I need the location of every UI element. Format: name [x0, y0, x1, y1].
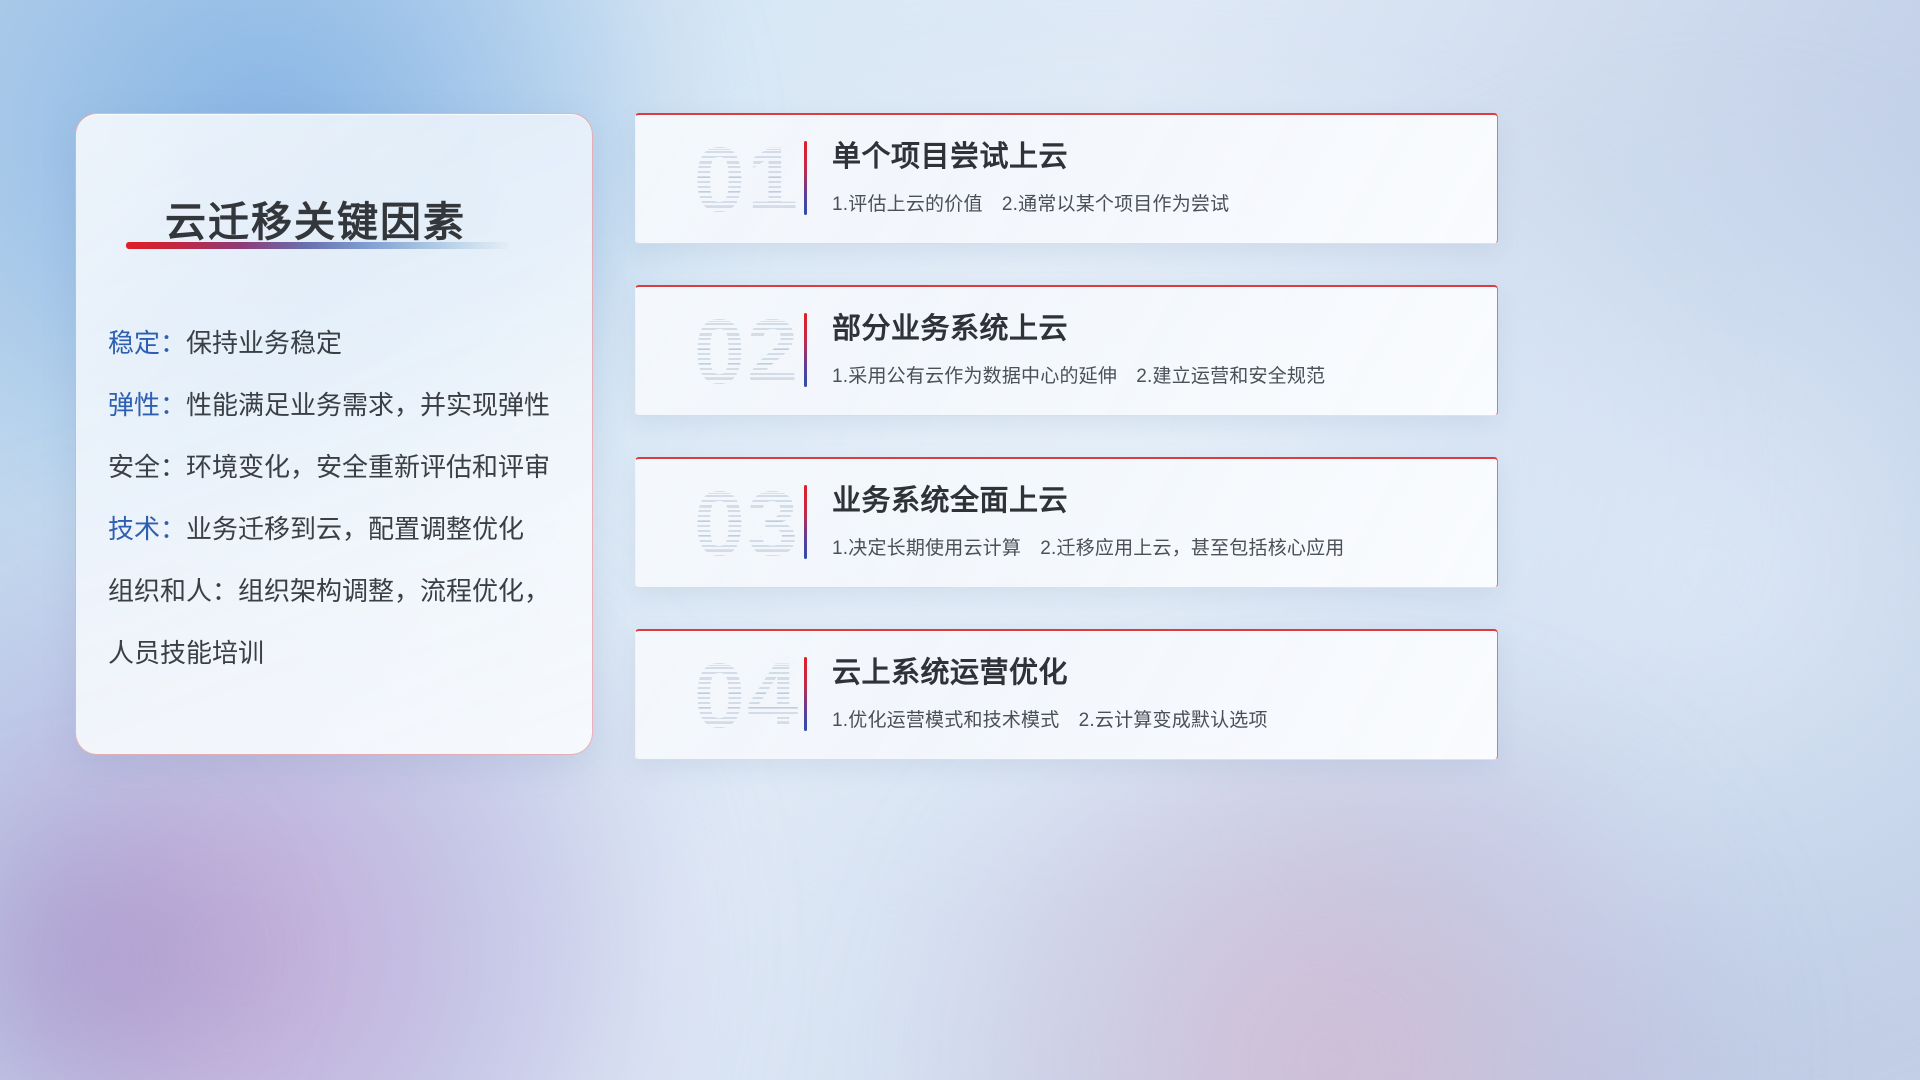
factor-label: 安全：	[108, 447, 186, 484]
factor-label: 弹性：	[108, 385, 186, 422]
step-title: 云上系统运营优化	[832, 649, 1068, 691]
step-subtitle: 1.采用公有云作为数据中心的延伸 2.建立运营和安全规范	[832, 361, 1325, 388]
factor-value: 人员技能培训	[108, 633, 264, 670]
step-accent-bar	[804, 313, 807, 387]
step-subtitle: 1.优化运营模式和技术模式 2.云计算变成默认选项	[832, 705, 1268, 732]
step-card-03[interactable]: 03 03 业务系统全面上云 1.决定长期使用云计算 2.迁移应用上云，甚至包括…	[635, 457, 1498, 588]
factor-value: 性能满足业务需求，并实现弹性	[186, 385, 550, 422]
slide-content: 云迁移关键因素 稳定： 保持业务稳定 弹性： 性能满足业务需求，并实现弹性 安全…	[0, 0, 1920, 1080]
key-factors-list: 稳定： 保持业务稳定 弹性： 性能满足业务需求，并实现弹性 安全： 环境变化，安…	[108, 310, 568, 682]
list-item: 安全： 环境变化，安全重新评估和评审	[108, 434, 568, 496]
list-item: 稳定： 保持业务稳定	[108, 310, 568, 372]
factor-value: 组织架构调整，流程优化，	[238, 571, 550, 608]
step-title: 部分业务系统上云	[832, 305, 1068, 347]
factor-label: 组织和人：	[108, 571, 238, 608]
page-title: 云迁移关键因素	[165, 188, 466, 248]
step-subtitle: 1.评估上云的价值 2.通常以某个项目作为尝试	[832, 189, 1229, 216]
factor-value: 环境变化，安全重新评估和评审	[186, 447, 550, 484]
step-subtitle: 1.决定长期使用云计算 2.迁移应用上云，甚至包括核心应用	[832, 533, 1345, 560]
list-item: 组织和人： 组织架构调整，流程优化，	[108, 558, 568, 620]
step-card-02[interactable]: 02 02 部分业务系统上云 1.采用公有云作为数据中心的延伸 2.建立运营和安…	[635, 285, 1498, 416]
list-item: 弹性： 性能满足业务需求，并实现弹性	[108, 372, 568, 434]
step-title: 业务系统全面上云	[832, 477, 1068, 519]
step-accent-bar	[804, 657, 807, 731]
step-title: 单个项目尝试上云	[832, 133, 1068, 175]
step-accent-bar	[804, 141, 807, 215]
factor-value: 业务迁移到云，配置调整优化	[186, 509, 524, 546]
factor-value: 保持业务稳定	[186, 323, 342, 360]
step-card-01[interactable]: 01 01 单个项目尝试上云 1.评估上云的价值 2.通常以某个项目作为尝试	[635, 113, 1498, 244]
title-underline-accent	[126, 242, 509, 249]
list-item: 技术： 业务迁移到云，配置调整优化	[108, 496, 568, 558]
factor-label: 技术：	[108, 509, 186, 546]
factor-label: 稳定：	[108, 323, 186, 360]
step-card-04[interactable]: 04 04 云上系统运营优化 1.优化运营模式和技术模式 2.云计算变成默认选项	[635, 629, 1498, 760]
step-accent-bar	[804, 485, 807, 559]
list-item-continuation: 人员技能培训	[108, 620, 568, 682]
key-factors-panel: 云迁移关键因素 稳定： 保持业务稳定 弹性： 性能满足业务需求，并实现弹性 安全…	[75, 113, 593, 755]
